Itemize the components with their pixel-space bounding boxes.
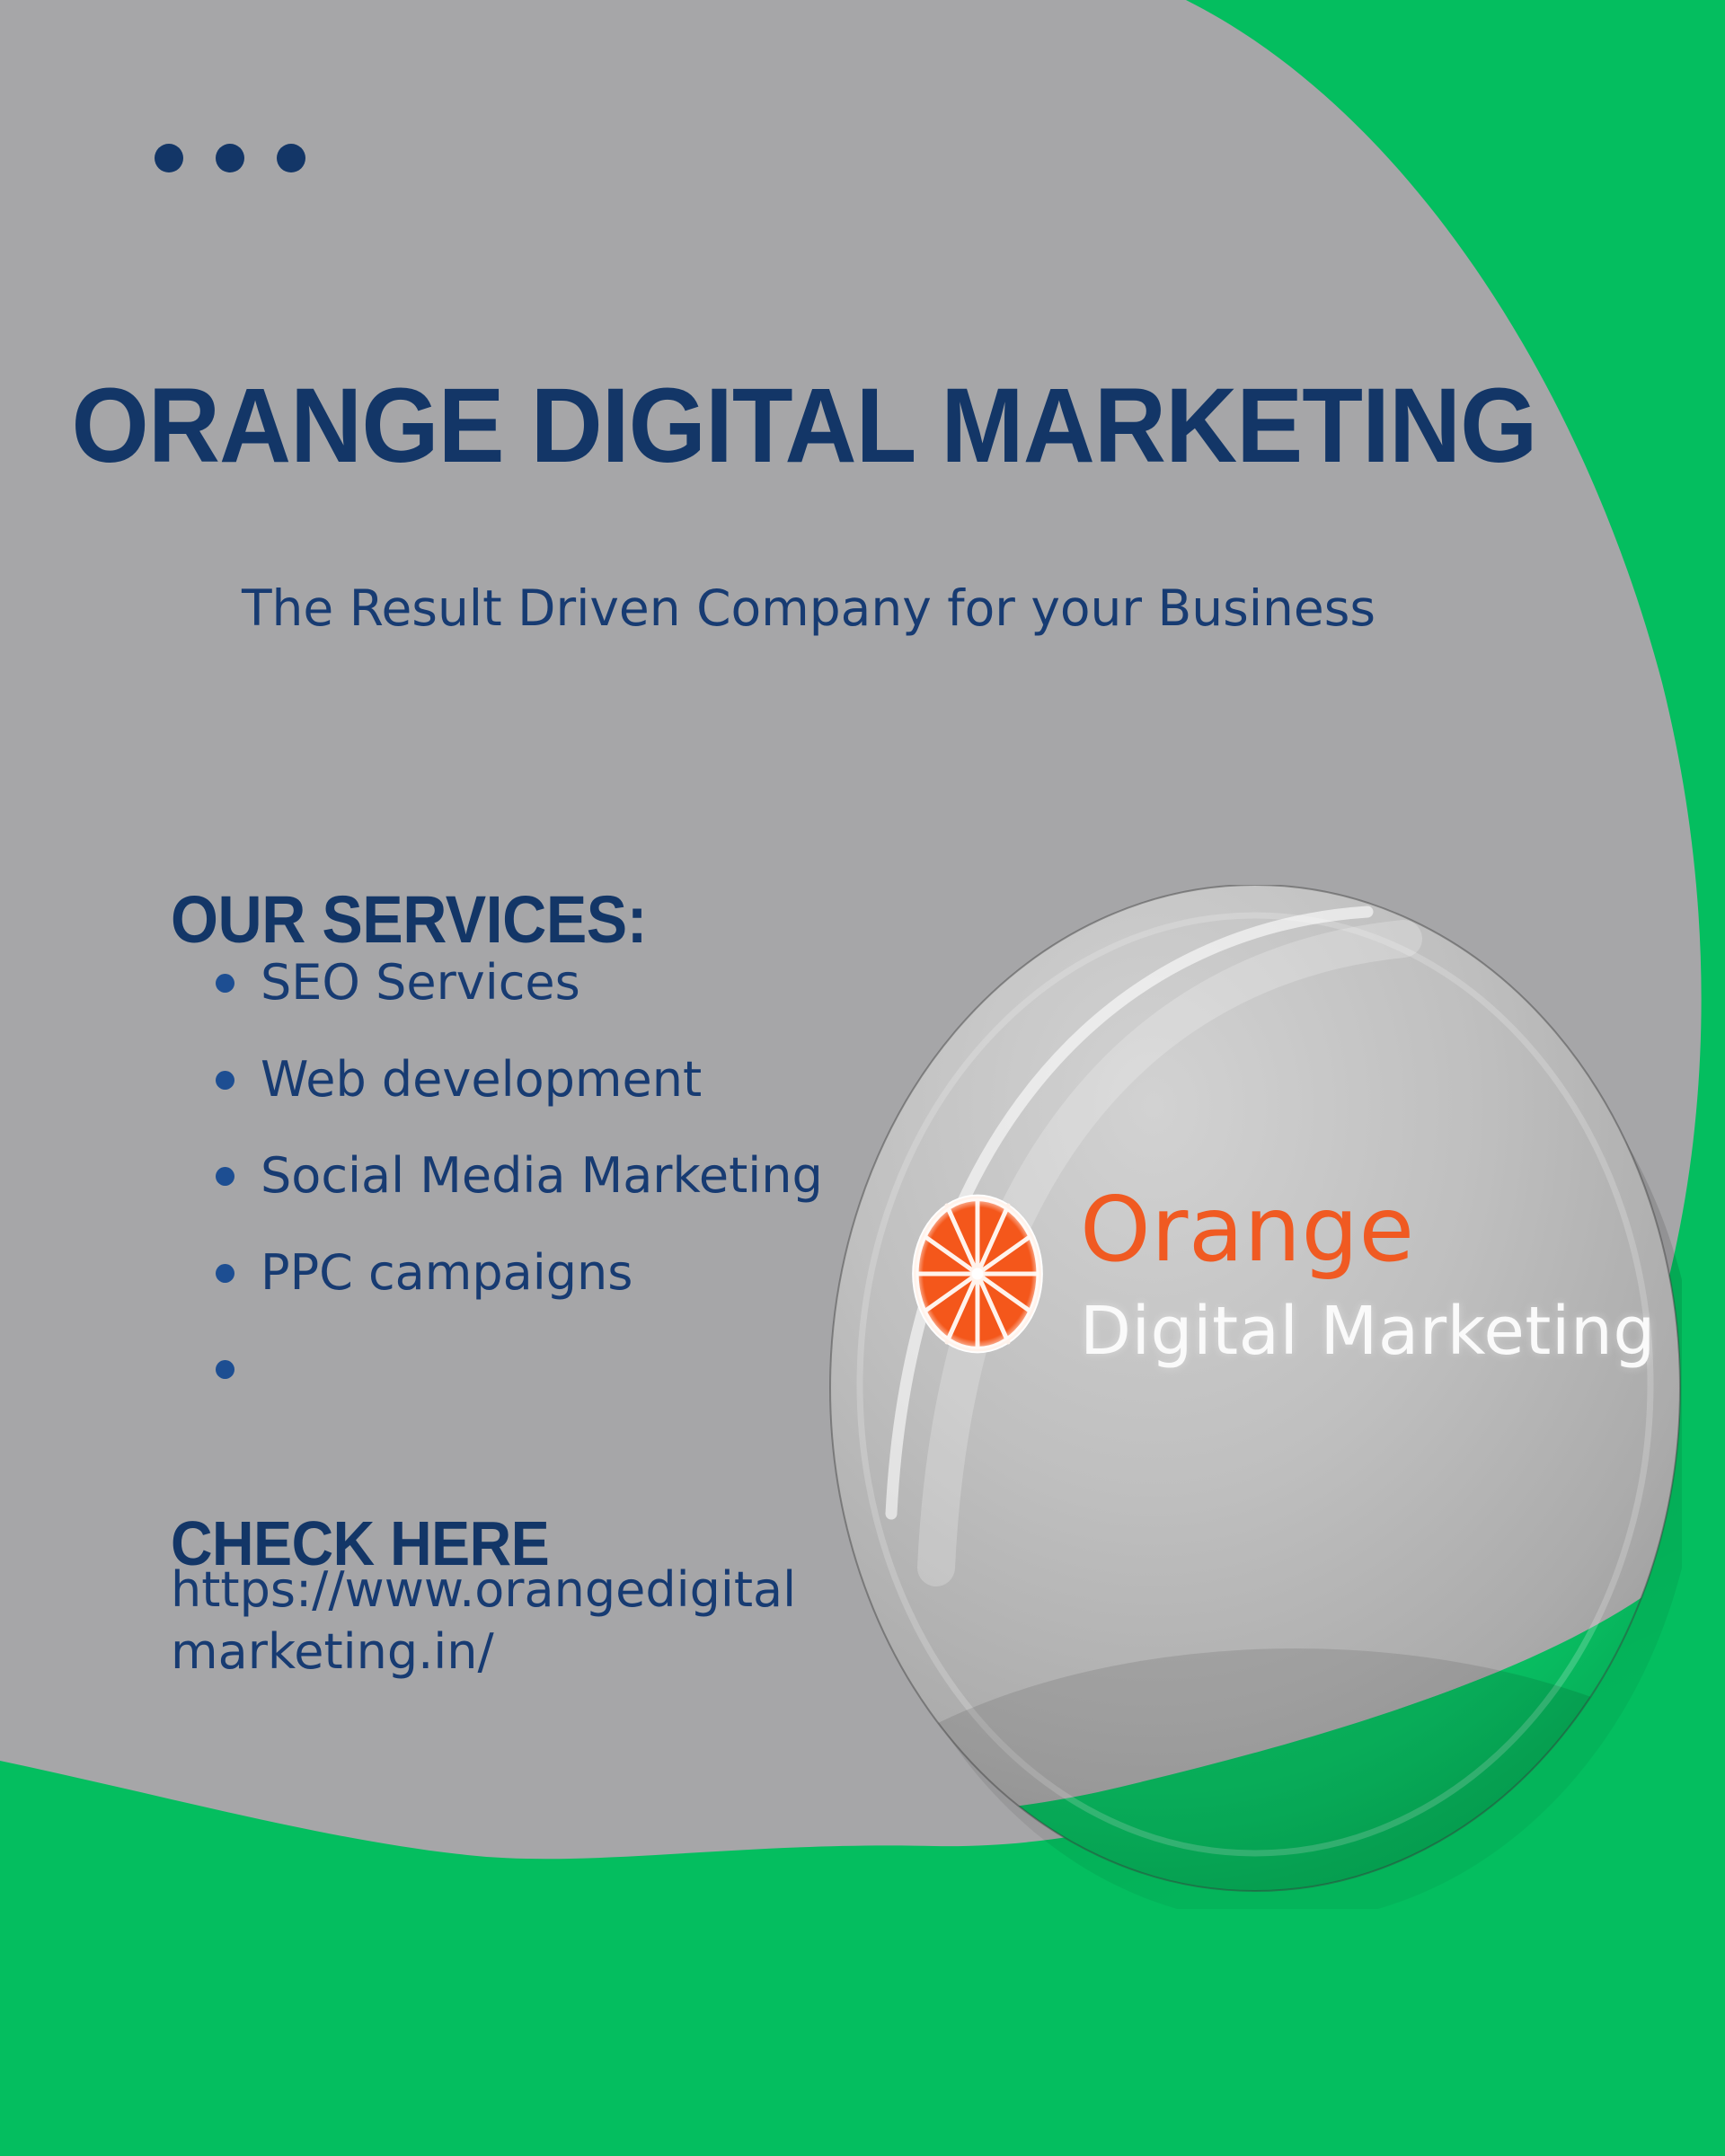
list-item-empty [261,1335,943,1356]
decor-dots [155,144,305,172]
page-subtitle: The Result Driven Company for your Busin… [180,576,1437,641]
dot-icon [277,144,305,172]
dot-icon [216,144,244,172]
dot-icon [155,144,183,172]
services-list: SEO Services Web development Social Medi… [203,949,943,1356]
list-item: SEO Services [261,949,943,1017]
website-url[interactable]: https://www.orangedigitalmarketing.in/ [171,1559,827,1683]
list-item: PPC campaigns [261,1239,943,1307]
list-item: Social Media Marketing [261,1142,943,1210]
list-item: Web development [261,1046,943,1114]
poster-canvas: Orange Digital Marketing ORANGE DIGITAL … [0,0,1725,2156]
page-title: ORANGE DIGITAL MARKETING [49,373,1561,479]
services-heading: OUR SERVICES: [171,881,647,958]
poster-content: ORANGE DIGITAL MARKETING The Result Driv… [0,0,1725,2156]
